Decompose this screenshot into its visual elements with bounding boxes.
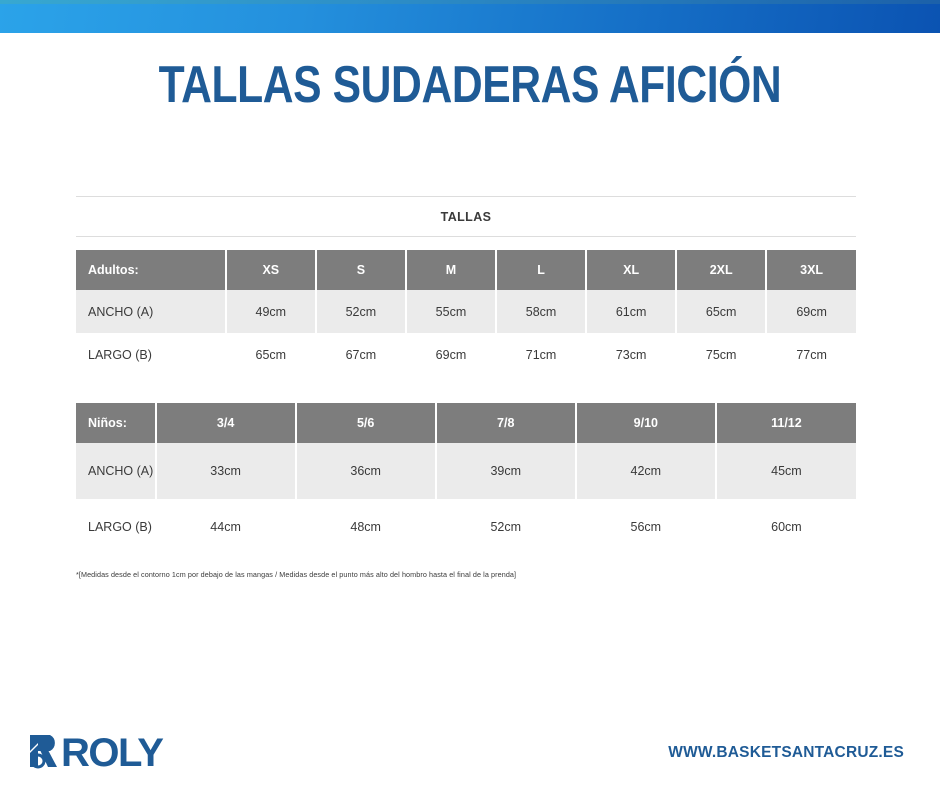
- table-row: ANCHO (A) 49cm 52cm 55cm 58cm 61cm 65cm …: [76, 290, 856, 333]
- size-tables-container: TALLAS Adultos: XS S M L XL 2XL 3XL: [76, 196, 856, 555]
- adults-ancho-3xl: 69cm: [766, 290, 856, 333]
- adults-ancho-s: 52cm: [316, 290, 406, 333]
- adults-ancho-label: ANCHO (A): [76, 290, 226, 333]
- kids-largo-label: LARGO (B): [76, 499, 156, 555]
- kids-size-table: Niños: 3/4 5/6 7/8 9/10 11/12 ANCHO (A) …: [76, 403, 856, 555]
- top-gradient-bar: [0, 0, 940, 33]
- adults-largo-xs: 65cm: [226, 333, 316, 376]
- kids-size-9-10: 9/10: [576, 403, 716, 443]
- adults-largo-label: LARGO (B): [76, 333, 226, 376]
- adults-largo-xl: 73cm: [586, 333, 676, 376]
- table-row: LARGO (B) 44cm 48cm 52cm 56cm 60cm: [76, 499, 856, 555]
- adults-size-table: Adultos: XS S M L XL 2XL 3XL ANCHO (A) 4…: [76, 250, 856, 376]
- kids-size-5-6: 5/6: [296, 403, 436, 443]
- adults-largo-2xl: 75cm: [676, 333, 766, 376]
- size-chart-page: TALLAS SUDADERAS AFICIÓN TALLAS Adultos:…: [0, 0, 940, 788]
- kids-largo-5-6: 48cm: [296, 499, 436, 555]
- table-row: LARGO (B) 65cm 67cm 69cm 71cm 73cm 75cm …: [76, 333, 856, 376]
- kids-size-7-8: 7/8: [436, 403, 576, 443]
- adults-largo-l: 71cm: [496, 333, 586, 376]
- roly-wordmark: ROLY: [61, 733, 162, 773]
- table-row: ANCHO (A) 33cm 36cm 39cm 42cm 45cm: [76, 443, 856, 499]
- roly-logo: ROLY: [26, 730, 162, 776]
- kids-size-11-12: 11/12: [716, 403, 856, 443]
- kids-largo-9-10: 56cm: [576, 499, 716, 555]
- adults-ancho-2xl: 65cm: [676, 290, 766, 333]
- adults-size-l: L: [496, 250, 586, 290]
- adults-size-2xl: 2XL: [676, 250, 766, 290]
- adults-size-m: M: [406, 250, 496, 290]
- kids-ancho-label: ANCHO (A): [76, 443, 156, 499]
- kids-ancho-11-12: 45cm: [716, 443, 856, 499]
- kids-largo-7-8: 52cm: [436, 499, 576, 555]
- kids-ancho-9-10: 42cm: [576, 443, 716, 499]
- roly-r-mark-icon: [26, 731, 60, 776]
- adults-size-3xl: 3XL: [766, 250, 856, 290]
- adults-largo-s: 67cm: [316, 333, 406, 376]
- adults-size-xs: XS: [226, 250, 316, 290]
- adults-ancho-xs: 49cm: [226, 290, 316, 333]
- kids-ancho-7-8: 39cm: [436, 443, 576, 499]
- adults-largo-3xl: 77cm: [766, 333, 856, 376]
- page-title: TALLAS SUDADERAS AFICIÓN: [85, 55, 856, 115]
- adults-size-xl: XL: [586, 250, 676, 290]
- kids-ancho-5-6: 36cm: [296, 443, 436, 499]
- top-bar-sheen: [0, 0, 940, 4]
- adults-size-s: S: [316, 250, 406, 290]
- table-caption: TALLAS: [76, 196, 856, 237]
- adults-row-label-header: Adultos:: [76, 250, 226, 290]
- kids-largo-11-12: 60cm: [716, 499, 856, 555]
- kids-ancho-3-4: 33cm: [156, 443, 296, 499]
- adults-ancho-l: 58cm: [496, 290, 586, 333]
- adults-ancho-m: 55cm: [406, 290, 496, 333]
- kids-row-label-header: Niños:: [76, 403, 156, 443]
- kids-size-3-4: 3/4: [156, 403, 296, 443]
- kids-largo-3-4: 44cm: [156, 499, 296, 555]
- site-url[interactable]: WWW.BASKETSANTACRUZ.ES: [668, 744, 904, 762]
- kids-header-row: Niños: 3/4 5/6 7/8 9/10 11/12: [76, 403, 856, 443]
- adults-ancho-xl: 61cm: [586, 290, 676, 333]
- table-caption-label: TALLAS: [441, 210, 492, 224]
- measurement-footnote: *[Medidas desde el contorno 1cm por deba…: [76, 570, 896, 579]
- adults-header-row: Adultos: XS S M L XL 2XL 3XL: [76, 250, 856, 290]
- adults-largo-m: 69cm: [406, 333, 496, 376]
